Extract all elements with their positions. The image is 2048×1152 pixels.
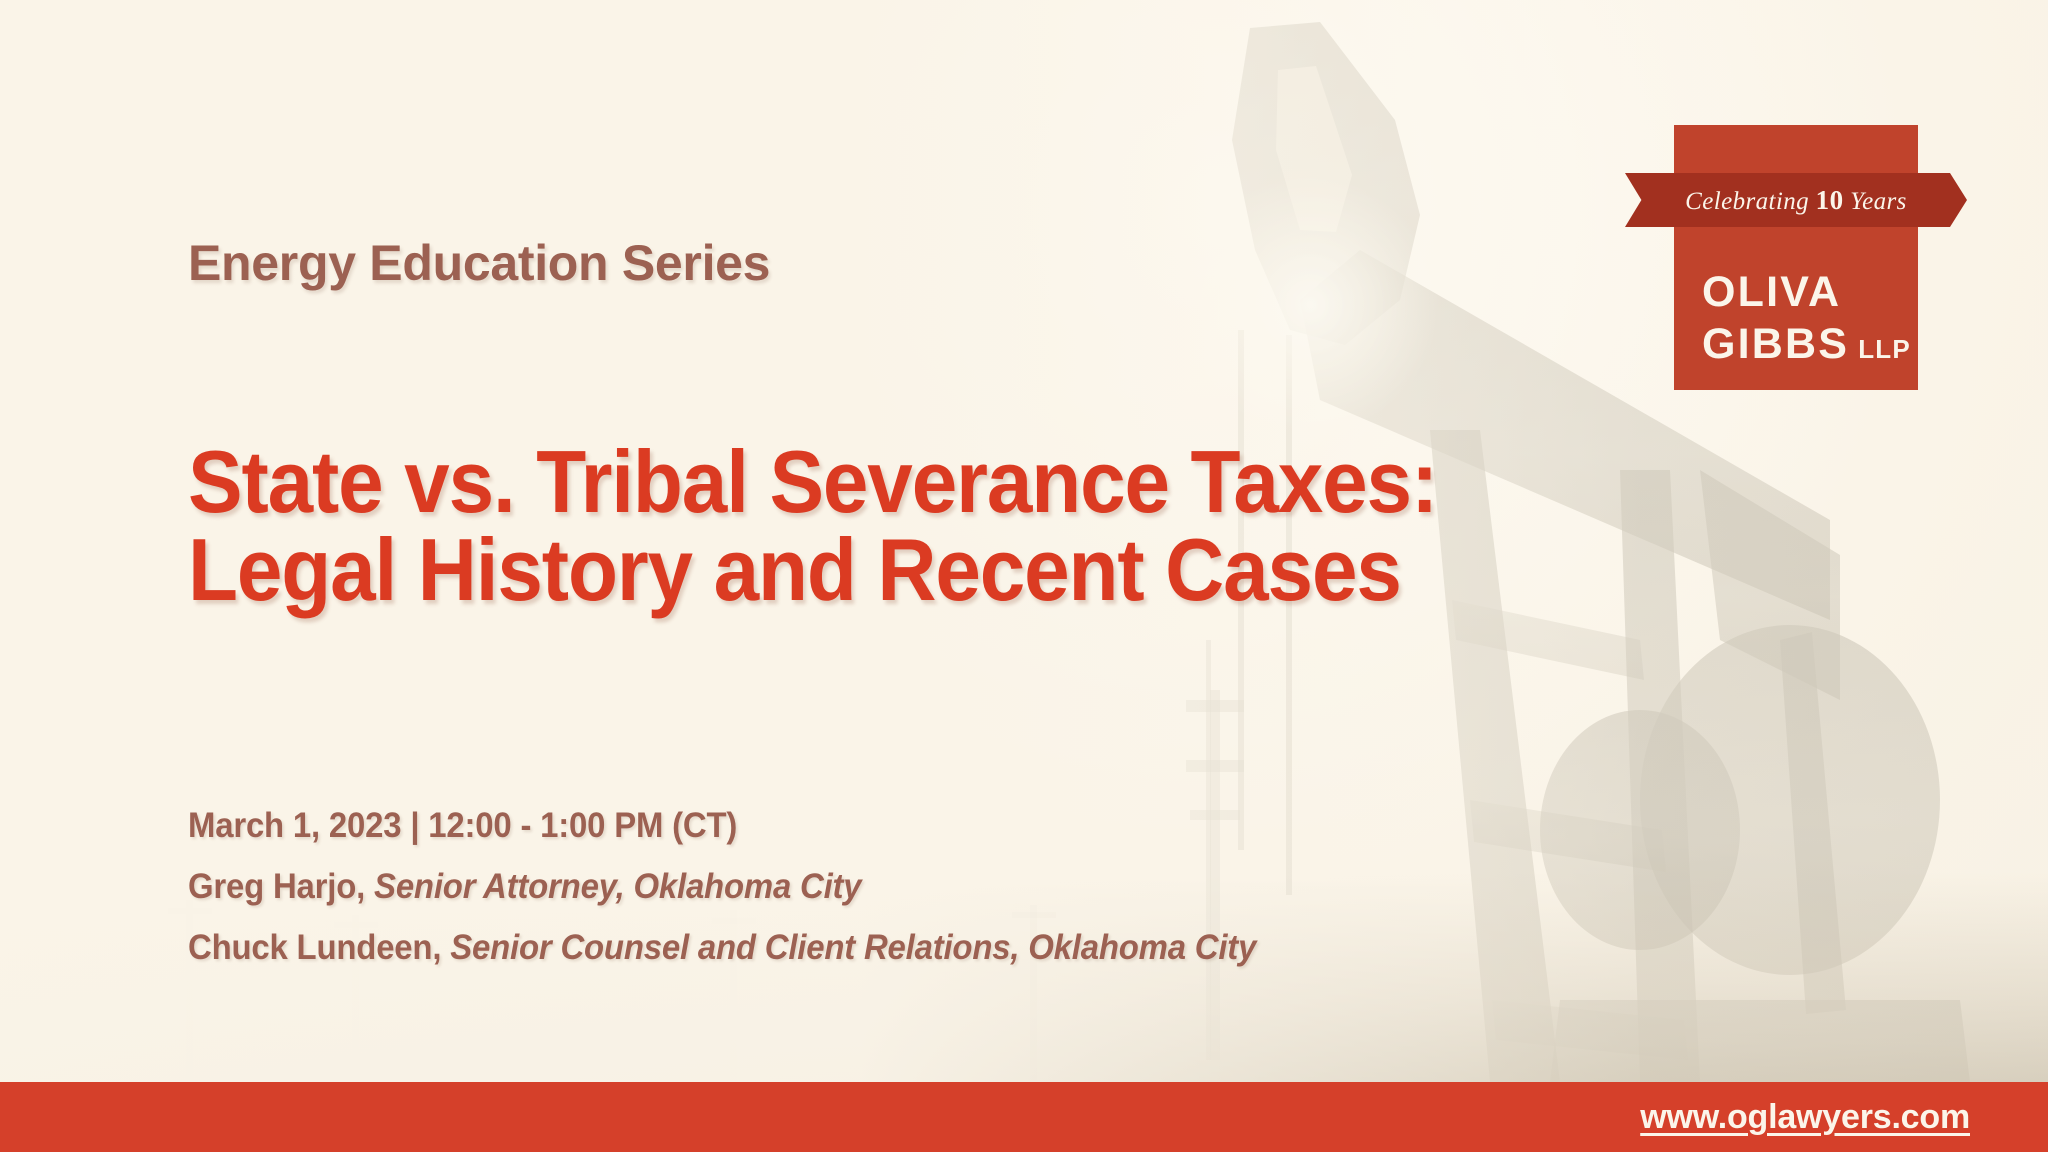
speaker-2-title: Senior Counsel and Client Relations, Okl… bbox=[450, 928, 1256, 967]
speaker-1-title: Senior Attorney, Oklahoma City bbox=[374, 867, 861, 906]
footer-bar: www.oglawyers.com bbox=[0, 1082, 2048, 1152]
ribbon-number: 10 bbox=[1816, 185, 1844, 215]
firm-name-line-2: GIBBSLLP bbox=[1702, 323, 1911, 366]
firm-logo: OLIVA GIBBSLLP bbox=[1674, 125, 1918, 390]
firm-name-gibbs: GIBBS bbox=[1702, 320, 1849, 368]
anniversary-ribbon: Celebrating 10 Years bbox=[1625, 173, 1967, 227]
speaker-1: Greg Harjo, Senior Attorney, Oklahoma Ci… bbox=[188, 867, 1256, 907]
speaker-2-name: Chuck Lundeen, bbox=[188, 928, 441, 967]
title-line-1: State vs. Tribal Severance Taxes: bbox=[188, 438, 1437, 526]
event-datetime: March 1, 2023 | 12:00 - 1:00 PM (CT) bbox=[188, 806, 1256, 846]
firm-suffix: LLP bbox=[1858, 334, 1911, 364]
website-url-link[interactable]: www.oglawyers.com bbox=[1640, 1098, 1970, 1137]
ribbon-prefix: Celebrating bbox=[1685, 188, 1809, 215]
title-line-2: Legal History and Recent Cases bbox=[188, 526, 1437, 614]
speaker-2: Chuck Lundeen, Senior Counsel and Client… bbox=[188, 928, 1256, 968]
speaker-1-name: Greg Harjo, bbox=[188, 867, 365, 906]
event-details: March 1, 2023 | 12:00 - 1:00 PM (CT) Gre… bbox=[188, 806, 1324, 989]
ribbon-suffix: Years bbox=[1850, 188, 1907, 215]
series-kicker: Energy Education Series bbox=[188, 234, 770, 292]
firm-name-line-1: OLIVA bbox=[1702, 271, 1911, 314]
firm-name: OLIVA GIBBSLLP bbox=[1702, 271, 1911, 366]
promotional-poster: Energy Education Series State vs. Tribal… bbox=[0, 0, 2048, 1152]
content-block: Energy Education Series State vs. Tribal… bbox=[188, 0, 1588, 1152]
anniversary-label: Celebrating 10 Years bbox=[1685, 185, 1907, 216]
page-title: State vs. Tribal Severance Taxes: Legal … bbox=[188, 438, 1437, 614]
